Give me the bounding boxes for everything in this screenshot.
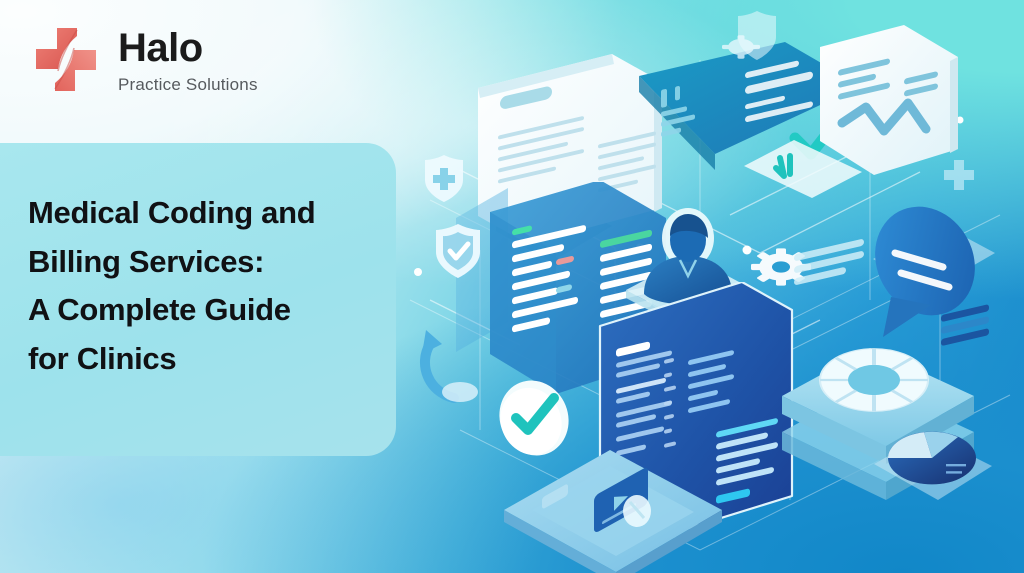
isometric-illustration — [400, 0, 1024, 573]
brand-name: Halo — [118, 28, 258, 68]
brand-logo[interactable]: Halo Practice Solutions — [30, 25, 258, 95]
hero-title-panel: Medical Coding and Billing Services: A C… — [0, 143, 396, 456]
pill-decor-icon — [612, 488, 662, 539]
hero-banner: Halo Practice Solutions Medical Coding a… — [0, 0, 1024, 573]
refresh-arrow-icon — [408, 310, 518, 425]
cog-small-icon — [718, 24, 764, 75]
shield-check-icon — [430, 220, 486, 287]
tag-label-icon — [738, 128, 868, 213]
medical-cross-swoosh-icon — [30, 25, 102, 95]
page-title: Medical Coding and Billing Services: A C… — [28, 189, 380, 384]
brand-tagline: Practice Solutions — [118, 75, 258, 95]
cross-badge-icon-3 — [930, 150, 986, 215]
pie-chart — [870, 408, 1000, 523]
brand-text: Halo Practice Solutions — [118, 26, 258, 95]
cross-badge-icon — [418, 150, 470, 211]
